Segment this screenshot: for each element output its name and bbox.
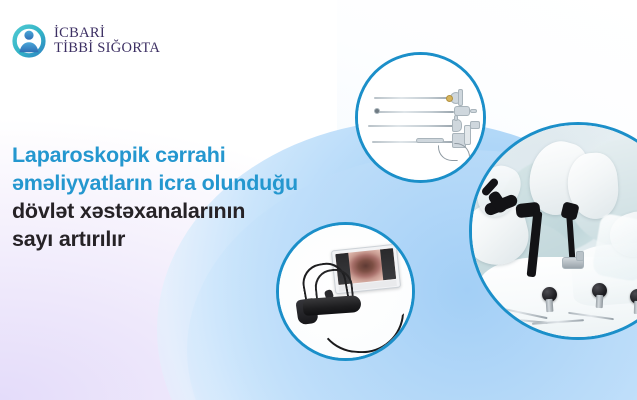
headline-line-1: Laparoskopik cərrahi xyxy=(12,142,352,170)
scope-insertion-tube xyxy=(314,309,404,356)
person-in-circle-icon xyxy=(12,24,46,58)
surgery-photo-content xyxy=(472,125,637,337)
brand-logo-line2: TİBBİ SIĞORTA xyxy=(54,41,160,56)
headline-line-3: dövlət xəstəxanalarının xyxy=(12,198,352,226)
laparoscopic-surgery-photo xyxy=(469,122,637,340)
laparoscopic-instruments-photo xyxy=(355,52,486,183)
brand-logo-text: İCBARİ TİBBİ SIĞORTA xyxy=(54,26,160,56)
instruments-photo-content xyxy=(358,55,483,180)
endoscope-photo-content xyxy=(279,225,412,358)
brand-logo[interactable]: İCBARİ TİBBİ SIĞORTA xyxy=(12,24,160,58)
headline-line-2: əməliyyatların icra olunduğu xyxy=(12,170,352,198)
news-banner: İCBARİ TİBBİ SIĞORTA Laparoskopik cərrah… xyxy=(0,0,637,400)
endoscope-monitor-photo xyxy=(276,222,415,361)
brand-logo-line1: İCBARİ xyxy=(54,26,160,41)
